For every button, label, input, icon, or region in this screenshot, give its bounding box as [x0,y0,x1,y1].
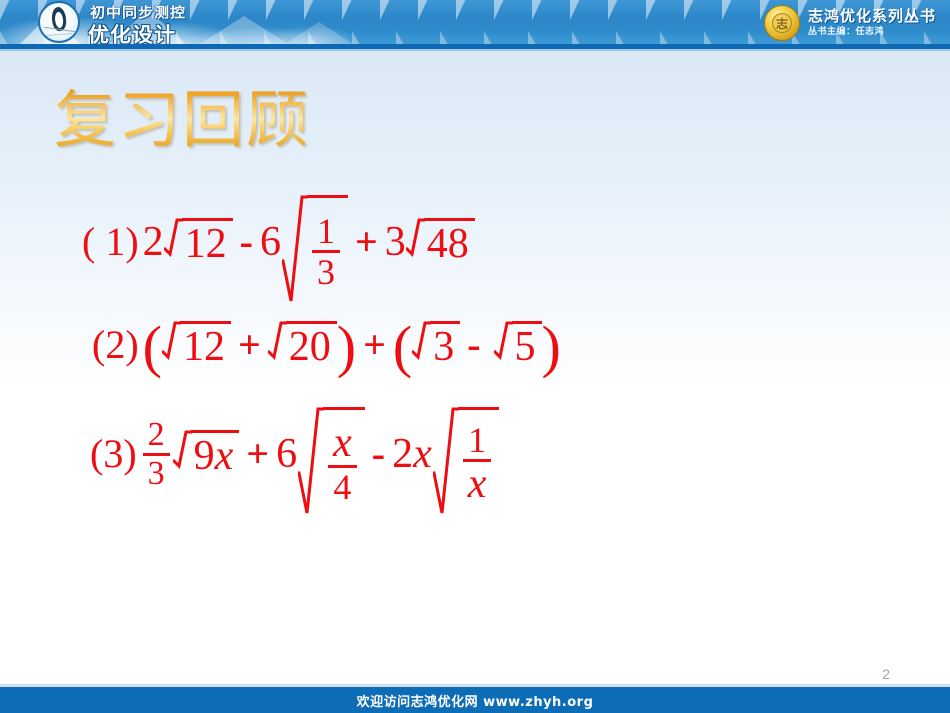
eq3-term3-coefficient-number: 2 [392,433,413,475]
eq3-term3-denominator: x [463,462,492,505]
eq2-radical-a2: 20 [268,321,337,370]
eq3-term2-denominator: 4 [328,468,356,505]
eq2-radical-a1: 12 [162,321,231,370]
eq1-operator-2: + [355,222,378,262]
equation-row-3: (3) 2 3 9 x + 6 [90,390,950,518]
eq2-radicand-b1: 3 [433,326,454,368]
eq2-radicand-a1: 12 [183,326,225,368]
equation-3-label: (3) [90,434,137,474]
eq2-radicand-b2: 5 [515,326,536,368]
eq3-term1-radicand-number: 9 [194,435,215,477]
gold-medal-glyph: 志 [765,15,799,33]
equation-1-label: ( 1) [82,222,139,262]
eq1-term2-radical: 1 3 [282,195,348,303]
radical-sign-icon [173,430,192,479]
eq1-term3-coefficient: 3 [385,221,406,263]
eq3-operator-1: + [246,434,269,474]
eq1-term2-fraction: 1 3 [312,213,340,290]
eq3-term2-numerator: x [328,422,357,465]
equation-row-2: (2) ( 12 + 20 ) + ( [92,306,950,384]
publisher-logo-right: 志 志鸿优化系列丛书 丛书主编：任志鸿 [764,2,936,44]
radical-sign-icon [282,195,308,303]
eq2-radical-b2: 5 [494,321,542,370]
product-logo-line2: 优化设计 [88,20,176,44]
header-rule-light [0,49,950,51]
equation-row-1: ( 1) 2 12 - 6 1 [82,182,950,302]
penguin-emblem-icon [38,1,80,43]
radical-sign-icon [162,321,181,370]
product-logo-left: 初中同步测控 优化设计 [88,2,208,44]
eq3-term3-coefficient-variable: x [413,433,432,475]
eq1-term3-radical: 48 [406,218,475,267]
footer-website-text: 欢迎访问志鸿优化网 www.zhyh.org [357,691,594,710]
publisher-series-title: 志鸿优化系列丛书 [808,7,936,25]
slide-header-banner: 初中同步测控 优化设计 志 志鸿优化系列丛书 丛书主编：任志鸿 [0,0,950,44]
eq3-term3-fraction: 1 x [463,422,492,505]
radical-sign-icon [433,407,459,515]
radical-sign-icon [494,321,513,370]
eq1-term2-denominator: 3 [312,253,340,290]
equation-2-label: (2) [92,325,139,365]
page-number: 2 [882,666,890,682]
eq3-term3-radical: 1 x [433,407,500,515]
eq3-term1-coef-numerator: 2 [143,418,170,453]
eq2-operator-3: - [467,325,480,365]
radical-sign-icon [164,218,183,267]
eq3-term1-coef-denominator: 3 [143,456,170,491]
eq2-radicand-a2: 20 [289,326,331,368]
eq1-term2-numerator: 1 [312,213,340,250]
eq3-term2-radical: x 4 [298,407,365,515]
eq2-operator-1: + [238,325,261,365]
eq3-term3-numerator: 1 [463,422,491,459]
eq1-term1-radical: 12 [164,218,233,267]
eq3-term2-fraction: x 4 [328,422,357,505]
eq3-term2-coefficient: 6 [276,433,297,475]
slide-canvas: 初中同步测控 优化设计 志 志鸿优化系列丛书 丛书主编：任志鸿 复习回顾 ( 1… [0,0,950,713]
eq1-term3-radicand: 48 [427,223,469,265]
eq2-operator-2: + [363,325,386,365]
radical-sign-icon [298,407,324,515]
eq1-term2-coefficient: 6 [260,221,281,263]
gold-medal-icon: 志 [764,5,800,41]
eq3-term1-radical: 9 x [173,430,240,479]
eq1-term1-radicand: 12 [185,223,227,265]
eq3-term1-radicand: 9 x [194,435,234,477]
eq3-term1-radicand-variable: x [215,435,234,477]
slide-title: 复习回顾 [54,82,310,158]
eq1-operator-1: - [240,222,253,262]
math-content-area: ( 1) 2 12 - 6 1 [0,182,950,518]
eq3-term1-coefficient-fraction: 2 3 [143,418,170,491]
radical-sign-icon [412,321,431,370]
eq2-radical-b1: 3 [412,321,460,370]
slide-footer-bar: 欢迎访问志鸿优化网 www.zhyh.org [0,687,950,713]
eq3-operator-2: - [372,434,385,474]
eq1-term1-coefficient: 2 [143,221,164,263]
radical-sign-icon [406,218,425,267]
radical-sign-icon [268,321,287,370]
publisher-editor-line: 丛书主编：任志鸿 [808,26,936,39]
